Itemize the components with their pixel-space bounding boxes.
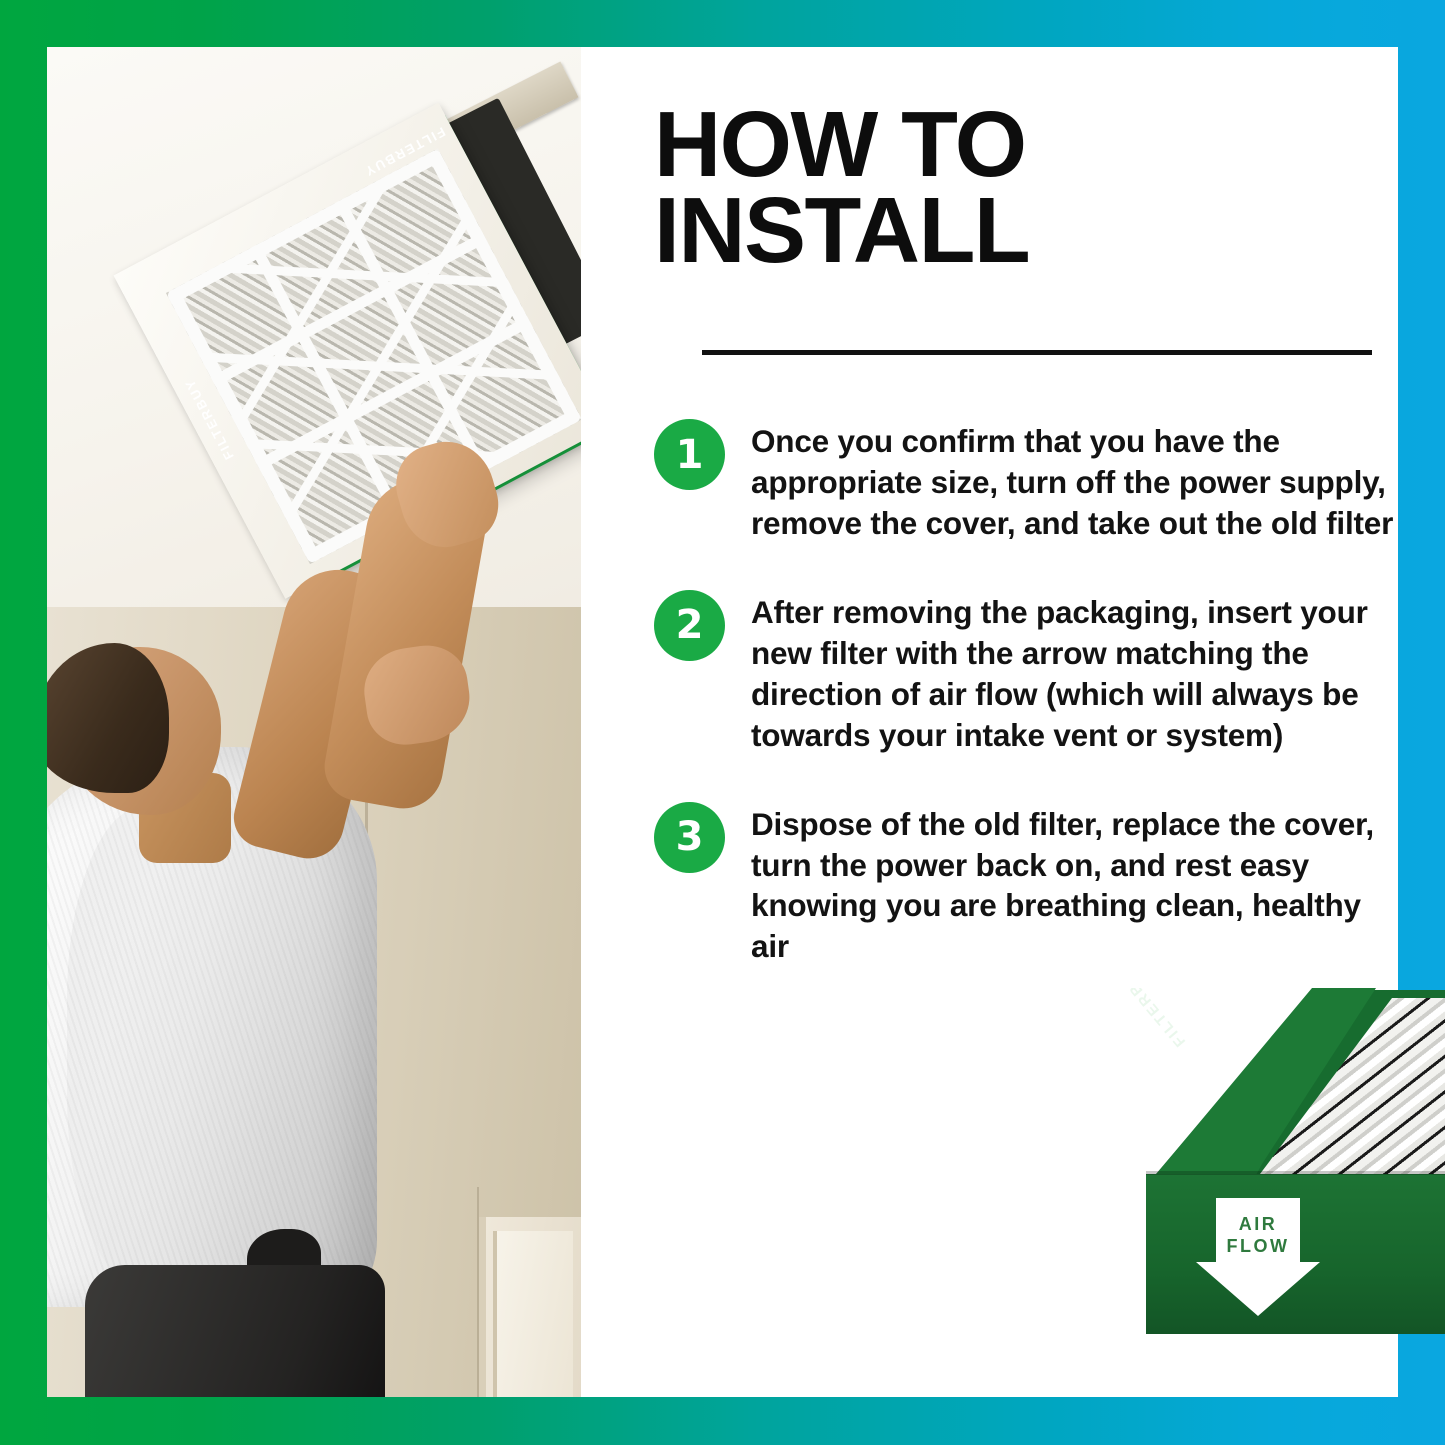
gradient-border-frame: FILTERBUY FILTERBUY: [0, 0, 1445, 1445]
step-number-badge: 2: [654, 590, 725, 661]
list-item: 1 Once you confirm that you have the app…: [654, 417, 1398, 544]
title-divider: [702, 350, 1372, 355]
step-description: After removing the packaging, insert you…: [751, 588, 1398, 756]
person-pants: [85, 1265, 385, 1397]
steps-list: 1 Once you confirm that you have the app…: [654, 417, 1398, 1011]
page-title: HOW TO INSTALL: [654, 102, 1354, 273]
step-number-badge: 1: [654, 419, 725, 490]
step-description: Dispose of the old filter, replace the c…: [751, 800, 1398, 968]
instructions-panel: HOW TO INSTALL 1 Once you confirm that y…: [607, 47, 1398, 1397]
page-title-line-1: HOW TO: [654, 102, 1354, 188]
step-description: Once you confirm that you have the appro…: [751, 417, 1398, 544]
step-number-badge: 3: [654, 802, 725, 873]
list-item: 3 Dispose of the old filter, replace the…: [654, 800, 1398, 968]
page-title-line-2: INSTALL: [654, 188, 1354, 274]
installation-photo: FILTERBUY FILTERBUY: [47, 47, 581, 1397]
white-content-card: FILTERBUY FILTERBUY: [47, 47, 1398, 1397]
person-hair: [47, 643, 169, 793]
door-panel: [493, 1231, 573, 1397]
list-item: 2 After removing the packaging, insert y…: [654, 588, 1398, 756]
shirt-fold: [67, 807, 257, 1287]
